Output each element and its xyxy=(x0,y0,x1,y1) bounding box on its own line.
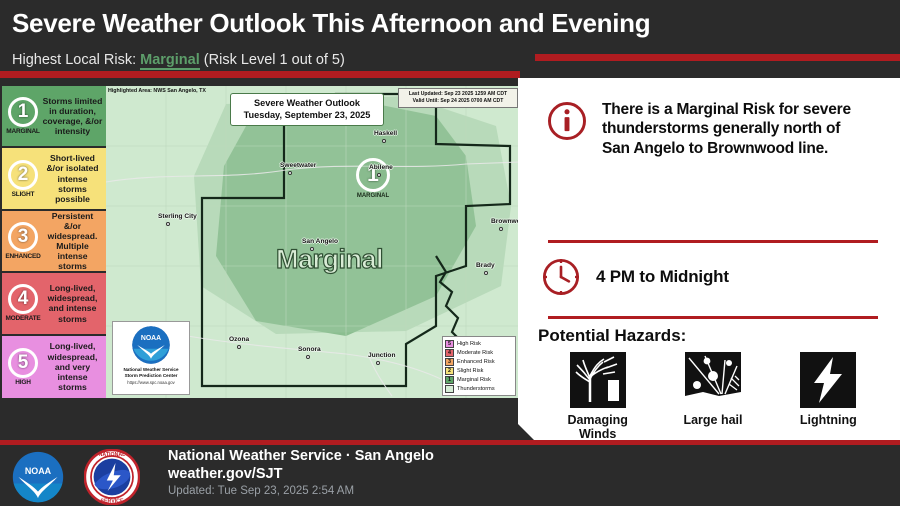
risk-number-5: 5 xyxy=(8,348,38,378)
risk-desc-1: Storms limited in duration, coverage, &/… xyxy=(42,93,106,140)
hazard-label: Lightning xyxy=(776,413,880,427)
subtitle-suffix: (Risk Level 1 out of 5) xyxy=(200,52,345,68)
subtitle-prefix: Highest Local Risk: xyxy=(12,52,140,68)
map-legend-label: Enhanced Risk xyxy=(457,359,495,365)
map-title-line2: Tuesday, September 23, 2025 xyxy=(233,110,381,122)
hazard-item: Lightning xyxy=(776,352,880,442)
risk-level-4: 4MODERATELong-lived, widespread, and int… xyxy=(2,273,106,335)
spc-logo-box: NOAA National Weather Service Storm Pred… xyxy=(112,321,190,395)
map-legend-swatch: 5 xyxy=(445,340,454,348)
risk-number-2: 2 xyxy=(8,160,38,190)
map-legend-row: 4Moderate Risk xyxy=(445,348,513,357)
city-dot xyxy=(310,247,314,251)
outlook-map[interactable]: Highlighted Area: NWS San Angelo, TX Sev… xyxy=(106,86,520,398)
noaa-footer-logo-icon: NOAA xyxy=(12,451,64,503)
risk-level-2: 2SLIGHTShort-lived &/or isolated intense… xyxy=(2,148,106,210)
map-title-box: Severe Weather Outlook Tuesday, Septembe… xyxy=(230,93,384,126)
spc-url: https://www.spc.noaa.gov xyxy=(115,380,187,385)
hazard-label: Large hail xyxy=(661,413,765,427)
map-legend-swatch xyxy=(445,385,454,393)
footer-office: National Weather Service · San Angelo xyxy=(168,448,434,464)
header-accent-left xyxy=(0,71,520,78)
map-legend-row: 5High Risk xyxy=(445,339,513,348)
city-label: Sterling City xyxy=(158,213,197,220)
risk-level-5: 5HIGHLong-lived, widespread, and very in… xyxy=(2,336,106,398)
city-label: Brownwood xyxy=(491,218,520,225)
risk-name-5: HIGH xyxy=(4,379,42,386)
map-legend-row: Thunderstorms xyxy=(445,384,513,393)
hazards-list: DamagingWindsLarge hailLightning xyxy=(540,352,886,442)
risk-desc-3: Persistent &/or widespread. Multiple int… xyxy=(42,208,106,275)
city-label: Brady xyxy=(476,262,495,269)
city-label: Ozona xyxy=(229,336,249,343)
map-title-line1: Severe Weather Outlook xyxy=(233,98,381,110)
risk-desc-5: Long-lived, widespread, and very intense… xyxy=(42,338,106,395)
map-legend-swatch: 1 xyxy=(445,376,454,384)
highlighted-area-label: Highlighted Area: NWS San Angelo, TX xyxy=(108,88,206,94)
footer-updated: Updated: Tue Sep 23, 2025 2:54 AM xyxy=(168,485,434,497)
hazard-item: Large hail xyxy=(661,352,765,442)
risk-name-3: ENHANCED xyxy=(4,253,42,260)
damaging-winds-icon xyxy=(570,352,626,408)
map-risk-marker-name: MARGINAL xyxy=(352,193,394,199)
time-row: 4 PM to Midnight xyxy=(540,256,729,298)
city-dot xyxy=(237,345,241,349)
svg-text:NOAA: NOAA xyxy=(141,335,161,342)
risk-badge-1: 1MARGINAL xyxy=(2,97,42,135)
large-hail-icon xyxy=(685,352,741,408)
city-dot xyxy=(376,361,380,365)
panel-divider-2 xyxy=(548,316,878,319)
map-risk-area-word: Marginal xyxy=(276,244,383,275)
map-legend-row: 3Enhanced Risk xyxy=(445,357,513,366)
footer: NOAA NATIONAL SERVICE National Weather S… xyxy=(0,445,900,506)
map-legend-swatch: 3 xyxy=(445,358,454,366)
map-legend-label: Moderate Risk xyxy=(457,350,493,356)
city-dot xyxy=(484,271,488,275)
city-dot xyxy=(377,173,381,177)
risk-badge-2: 2SLIGHT xyxy=(2,160,42,198)
map-legend-label: Slight Risk xyxy=(457,368,483,374)
risk-level-1: 1MARGINALStorms limited in duration, cov… xyxy=(2,86,106,148)
risk-number-4: 4 xyxy=(8,284,38,314)
clock-icon xyxy=(540,256,582,298)
hazard-item: DamagingWinds xyxy=(546,352,650,442)
lightning-icon xyxy=(800,352,856,408)
hazard-label: DamagingWinds xyxy=(546,413,650,442)
valid-until-text: Valid Until: Sep 24 2025 0700 AM CDT xyxy=(402,98,514,105)
svg-text:SERVICE: SERVICE xyxy=(101,498,124,504)
map-legend-swatch: 4 xyxy=(445,349,454,357)
map-legend-row: 1Marginal Risk xyxy=(445,375,513,384)
nws-footer-logo-icon: NATIONAL SERVICE xyxy=(84,449,140,505)
time-window: 4 PM to Midnight xyxy=(596,267,729,287)
panel-divider-1 xyxy=(548,240,878,243)
city-label: Abilene xyxy=(369,164,393,171)
subtitle-risk-word: Marginal xyxy=(140,52,200,70)
map-legend-swatch: 2 xyxy=(445,367,454,375)
risk-badge-4: 4MODERATE xyxy=(2,284,42,322)
city-label: San Angelo xyxy=(302,238,338,245)
risk-badge-5: 5HIGH xyxy=(2,348,42,386)
timestamp-box: Last Updated: Sep 23 2025 1259 AM CDT Va… xyxy=(398,88,518,108)
city-dot xyxy=(166,222,170,226)
map-legend-label: Thunderstorms xyxy=(457,386,495,392)
city-dot xyxy=(288,171,292,175)
footer-website[interactable]: weather.gov/SJT xyxy=(168,466,434,482)
risk-number-1: 1 xyxy=(8,97,38,127)
weather-graphic: Severe Weather Outlook This Afternoon an… xyxy=(0,0,900,506)
risk-number-3: 3 xyxy=(8,222,38,252)
footer-text: National Weather Service · San Angelo we… xyxy=(168,448,434,497)
risk-level-legend: 1MARGINALStorms limited in duration, cov… xyxy=(2,86,106,398)
risk-desc-4: Long-lived, widespread, and intense stor… xyxy=(42,280,106,327)
page-title: Severe Weather Outlook This Afternoon an… xyxy=(12,8,650,39)
city-label: Haskell xyxy=(374,130,397,137)
svg-text:NOAA: NOAA xyxy=(25,466,52,476)
risk-badge-3: 3ENHANCED xyxy=(2,222,42,260)
city-label: Junction xyxy=(368,352,395,359)
city-dot xyxy=(382,139,386,143)
city-label: Sonora xyxy=(298,346,321,353)
spc-caption-line2: Storm Prediction Center xyxy=(115,373,187,379)
highest-risk-subtitle: Highest Local Risk: Marginal (Risk Level… xyxy=(12,52,345,68)
details-panel: There is a Marginal Risk for severe thun… xyxy=(518,54,900,446)
map-legend-label: High Risk xyxy=(457,341,481,347)
hazards-title: Potential Hazards: xyxy=(538,326,686,346)
header-accent-right xyxy=(535,54,900,61)
map-risk-legend: 5High Risk4Moderate Risk3Enhanced Risk2S… xyxy=(442,336,516,396)
risk-name-4: MODERATE xyxy=(4,315,42,322)
header: Severe Weather Outlook This Afternoon an… xyxy=(0,0,900,78)
info-row: There is a Marginal Risk for severe thun… xyxy=(546,100,886,158)
last-updated-text: Last Updated: Sep 23 2025 1259 AM CDT xyxy=(402,91,514,98)
noaa-logo-icon: NOAA xyxy=(131,325,171,365)
info-circle-icon xyxy=(546,100,588,142)
city-dot xyxy=(499,227,503,231)
city-label: Sweetwater xyxy=(280,162,316,169)
map-legend-row: 2Slight Risk xyxy=(445,366,513,375)
info-message: There is a Marginal Risk for severe thun… xyxy=(602,100,851,158)
map-legend-label: Marginal Risk xyxy=(457,377,491,383)
risk-name-1: MARGINAL xyxy=(4,128,42,135)
risk-desc-2: Short-lived &/or isolated intense storms… xyxy=(42,150,106,207)
svg-text:NATIONAL: NATIONAL xyxy=(99,452,127,458)
risk-name-2: SLIGHT xyxy=(4,191,42,198)
city-dot xyxy=(306,355,310,359)
risk-level-3: 3ENHANCEDPersistent &/or widespread. Mul… xyxy=(2,211,106,273)
